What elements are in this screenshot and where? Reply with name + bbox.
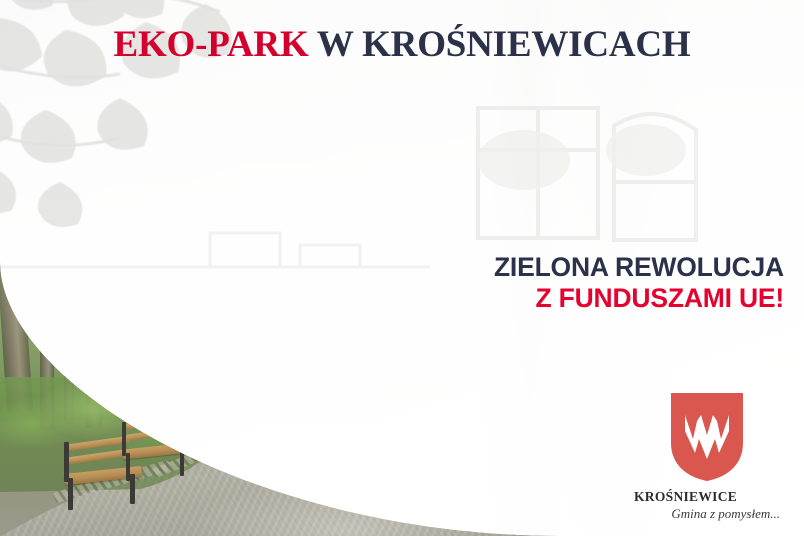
logo-municipality-name: KROŚNIEWICE bbox=[634, 489, 786, 505]
photo-willow-post bbox=[468, 314, 476, 392]
photo-woven-bench bbox=[456, 460, 560, 536]
park-photo bbox=[0, 262, 560, 536]
title-rest: W KROŚNIEWICACH bbox=[309, 24, 691, 65]
photo-bench bbox=[120, 420, 206, 482]
shield-box bbox=[628, 391, 786, 483]
subtitle-line-2: Z FUNDUSZAMI UE! bbox=[494, 283, 784, 314]
photo-cobble-edge bbox=[311, 368, 399, 403]
photo-shrubs bbox=[325, 372, 560, 454]
page-title: EKO-PARK W KROŚNIEWICACH bbox=[0, 26, 804, 63]
logo-tagline: Gmina z pomysłem... bbox=[628, 506, 780, 522]
photo-willow-post bbox=[348, 308, 356, 392]
photo-branch-backrest bbox=[362, 318, 454, 374]
subtitle: ZIELONA REWOLUCJA Z FUNDUSZAMI UE! bbox=[494, 252, 784, 313]
krosniewice-shield-icon bbox=[669, 391, 745, 483]
title-highlight: EKO-PARK bbox=[113, 24, 308, 65]
photo-cobble-edge bbox=[236, 392, 331, 441]
photo-willow-post bbox=[540, 316, 549, 396]
photo-pergola bbox=[178, 324, 236, 387]
subtitle-line-1: ZIELONA REWOLUCJA bbox=[494, 252, 784, 283]
photo-waste-bin bbox=[268, 380, 280, 410]
photo-woven-bench bbox=[348, 364, 478, 450]
photo-woven-bench bbox=[396, 378, 560, 474]
photo-lamp-post bbox=[184, 278, 189, 412]
poster-canvas: EKO-PARK W KROŚNIEWICACH ZIELONA REWOLUC… bbox=[0, 0, 804, 536]
photo-branch-backrest bbox=[486, 322, 548, 372]
photo-bench bbox=[172, 402, 232, 452]
photo-branch-backrest bbox=[380, 328, 436, 366]
photo-pergola bbox=[134, 320, 184, 389]
municipality-logo: KROŚNIEWICE Gmina z pomysłem... bbox=[628, 391, 786, 522]
photo-hillside bbox=[235, 355, 560, 448]
photo-lamp-head bbox=[176, 276, 198, 281]
